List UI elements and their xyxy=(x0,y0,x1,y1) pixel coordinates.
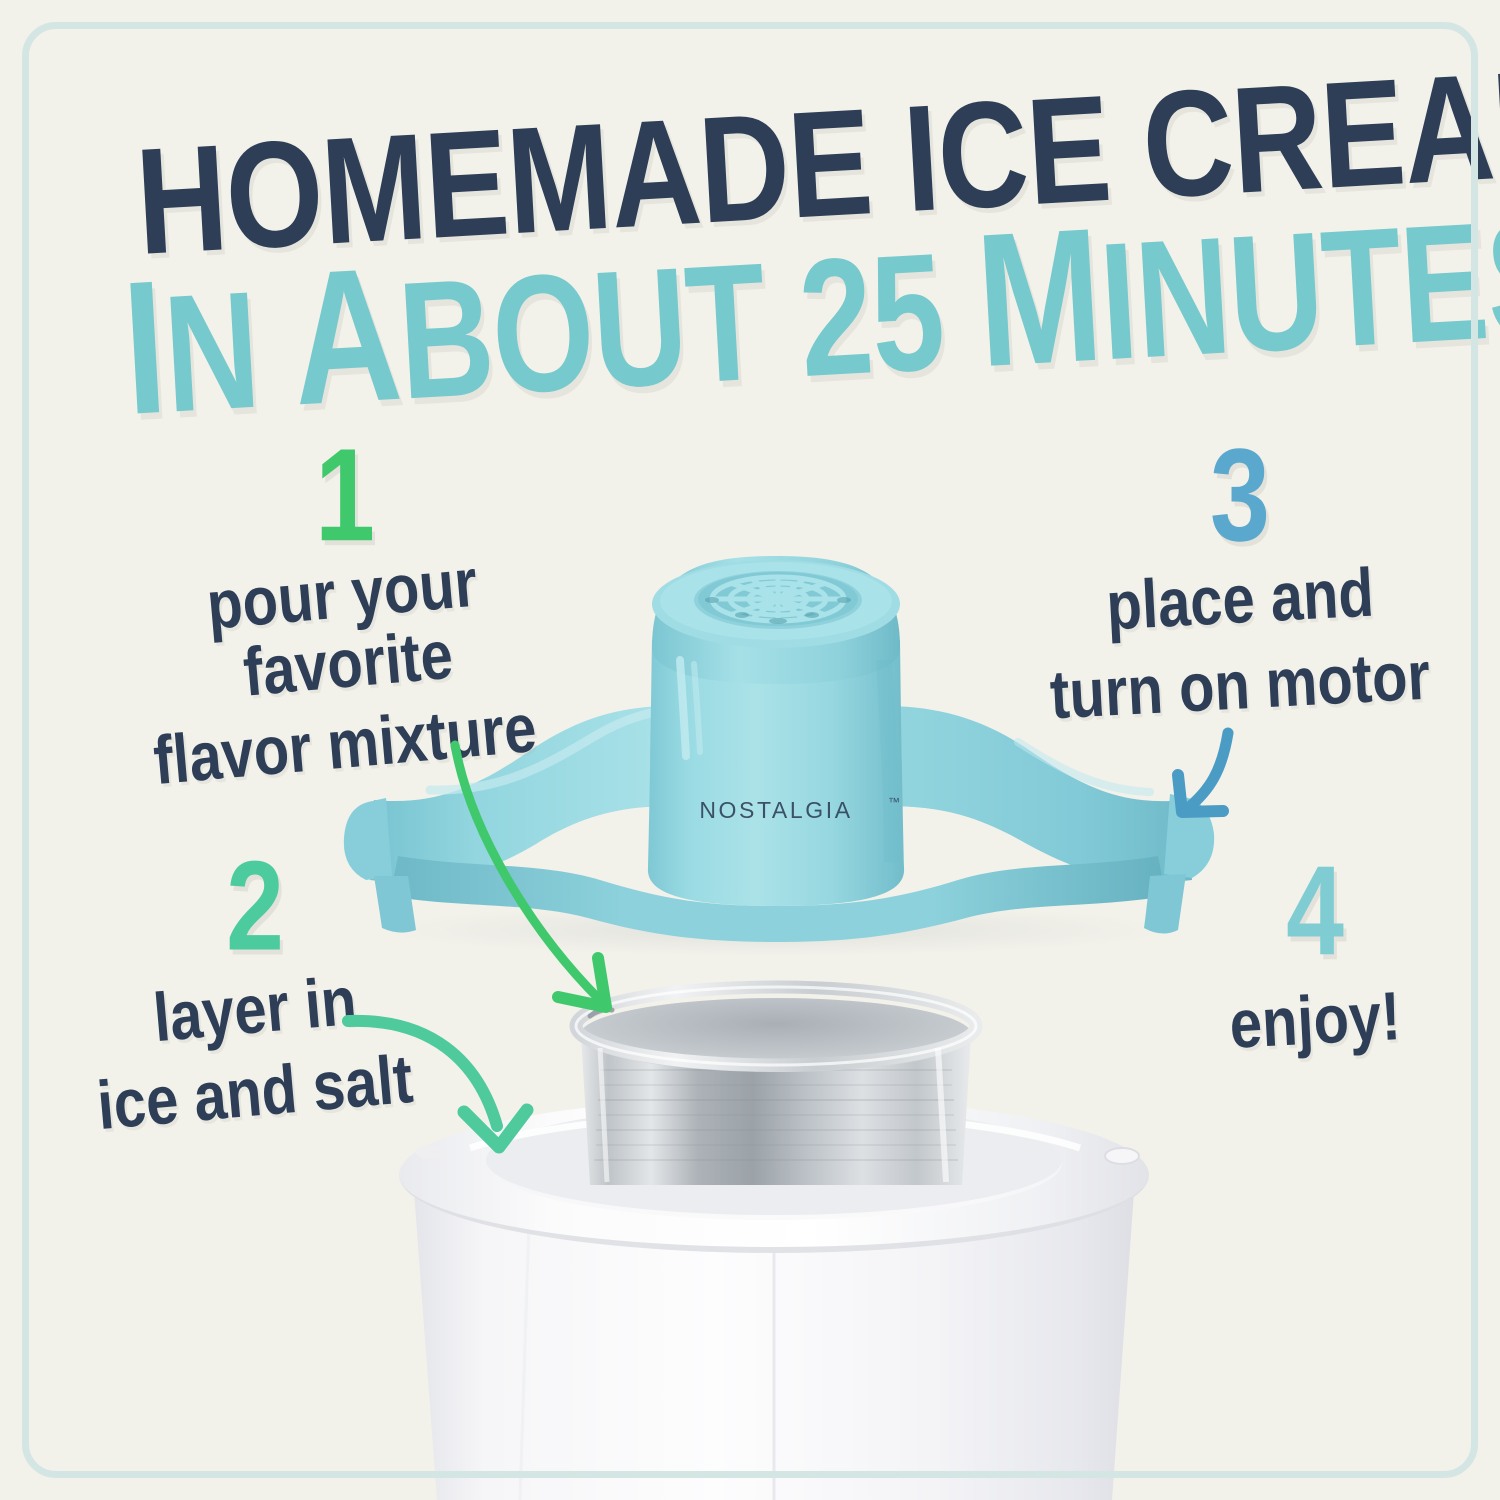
infographic-canvas: NOSTALGIA ™ HOMEMADE ICE CREAM IN ABOUT … xyxy=(0,0,1500,1500)
step-3: 3 place and turn on motor xyxy=(1040,445,1440,715)
title2-seg-1: N xyxy=(160,255,299,448)
step-3-number: 3 xyxy=(1040,434,1440,555)
title2-seg-3: BOUT xyxy=(394,227,805,435)
title2-seg-4: 25 xyxy=(795,217,984,413)
motor-brand-label: NOSTALGIA xyxy=(699,797,852,823)
step-1-number: 1 xyxy=(110,434,580,555)
step-3-caption-line1: place and xyxy=(1038,555,1441,646)
step-2: 2 layer in ice and salt xyxy=(75,860,435,1122)
step-1: 1 pour your favorite flavor mixture xyxy=(110,445,580,774)
vent-grille-icon xyxy=(694,571,862,629)
step-4-number: 4 xyxy=(1165,854,1465,971)
bucket-tab-right xyxy=(1105,1148,1139,1164)
step-2-number: 2 xyxy=(75,849,435,966)
bucket-tab-left xyxy=(416,1145,444,1159)
motor-dome-shade-right xyxy=(884,660,892,862)
title2-seg-6: INUTES xyxy=(1096,184,1500,396)
canister-group xyxy=(576,987,976,1185)
title2-seg-5: M xyxy=(972,188,1107,406)
motor-brand-tm: ™ xyxy=(888,795,900,809)
step-4: 4 enjoy! xyxy=(1165,865,1465,1050)
title2-seg-2: A xyxy=(287,227,405,445)
title-block: HOMEMADE ICE CREAM IN ABOUT 25 MINUTES xyxy=(0,0,1500,420)
